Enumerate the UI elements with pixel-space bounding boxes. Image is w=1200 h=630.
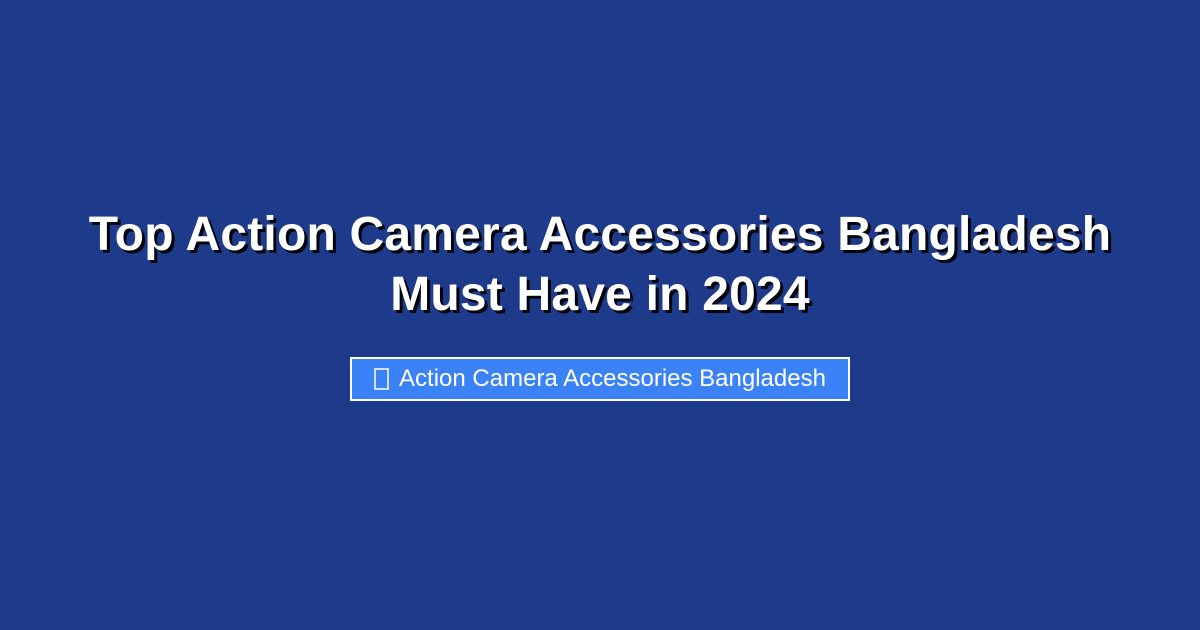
- page-title: Top Action Camera Accessories Bangladesh…: [55, 205, 1145, 325]
- missing-glyph-tofu-icon: [374, 368, 389, 390]
- category-badge[interactable]: Action Camera Accessories Bangladesh: [350, 357, 850, 401]
- badge-row: Action Camera Accessories Bangladesh: [0, 357, 1200, 401]
- share-card: Top Action Camera Accessories Bangladesh…: [0, 0, 1200, 630]
- category-badge-label: Action Camera Accessories Bangladesh: [399, 367, 826, 391]
